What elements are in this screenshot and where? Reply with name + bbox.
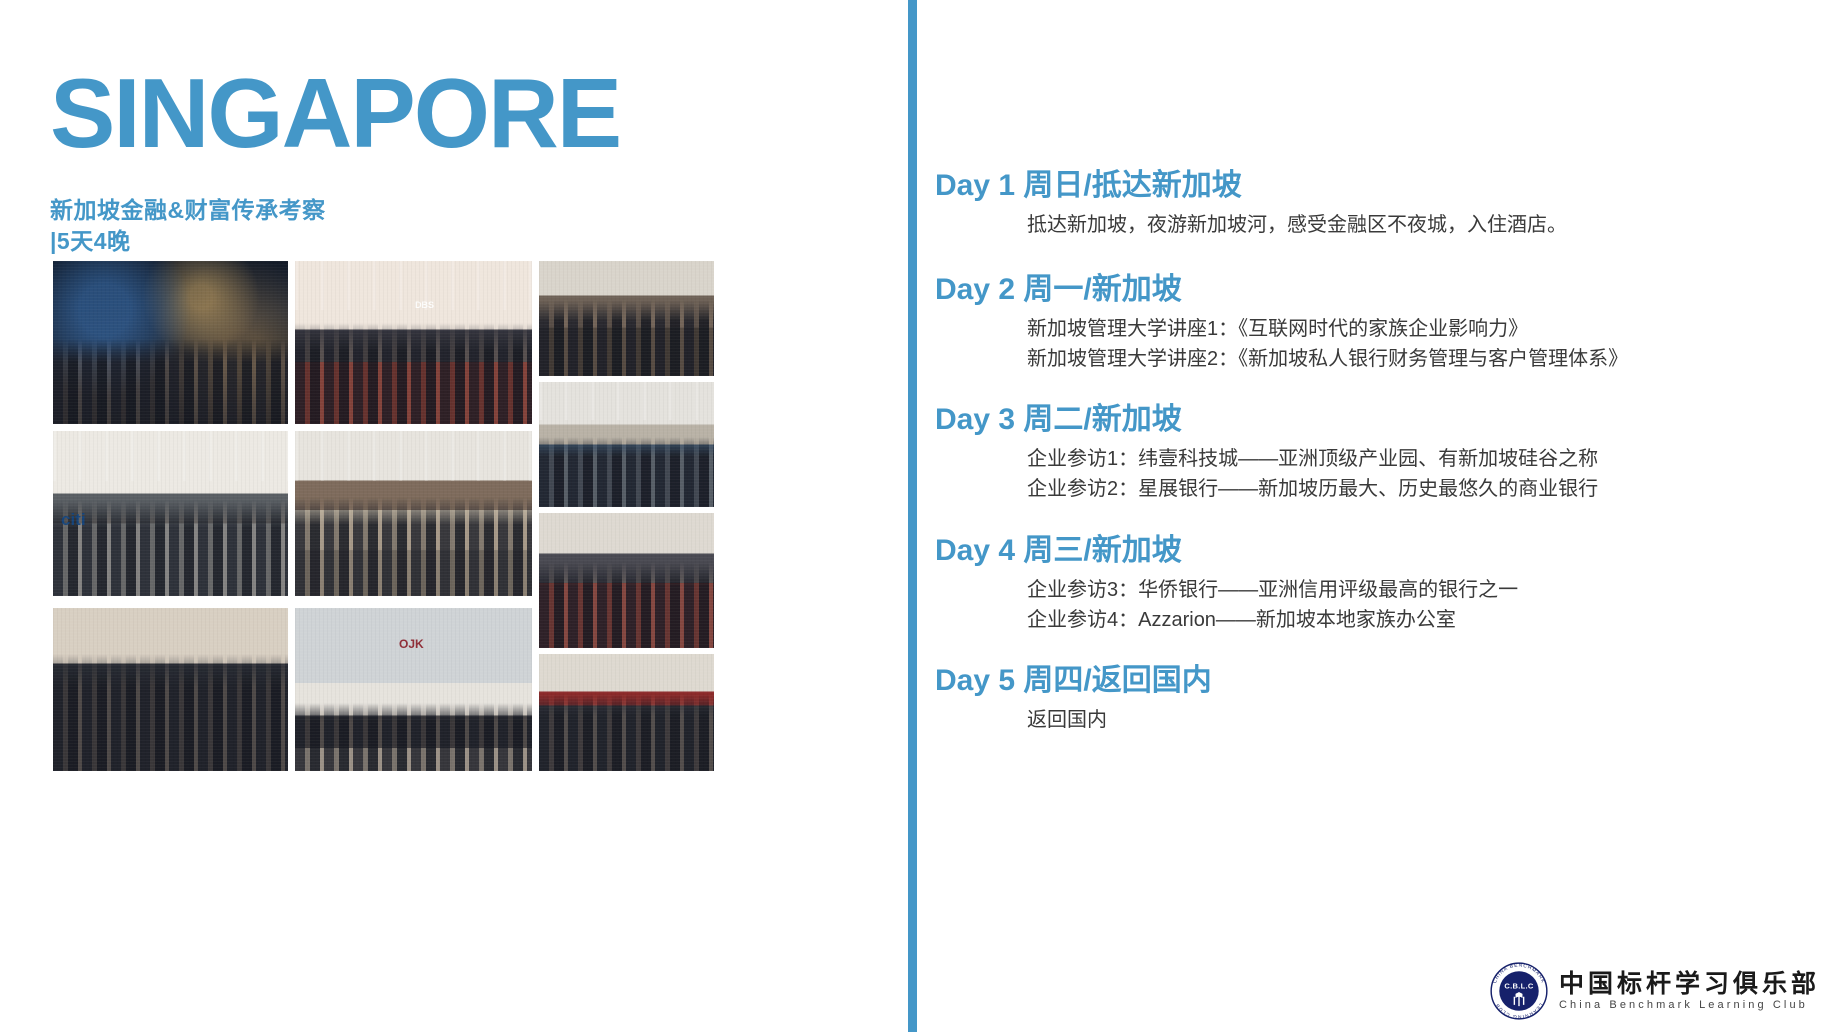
day-1-line-1: 抵达新加坡，夜游新加坡河，感受金融区不夜城，入住酒店。 <box>1027 210 1567 240</box>
photo-gallery: citi DBS <box>53 261 714 771</box>
cblc-seal-icon: C.B.L.C CHINA BENCHMARK LEARNING CLUB <box>1490 962 1548 1020</box>
subtitle-line-1: 新加坡金融&财富传承考察 <box>50 195 326 226</box>
photo-smu-seminar-room[interactable] <box>539 382 714 507</box>
left-panel: SINGAPORE 新加坡金融&财富传承考察 |5天4晚 <box>0 0 908 1032</box>
photo-red-auditorium[interactable] <box>539 513 714 648</box>
photo-marina-night-exhibit[interactable] <box>53 261 288 424</box>
day-5-details: 返回国内 <box>1027 705 1212 735</box>
day-2-details: 新加坡管理大学讲座1：《互联网时代的家族企业影响力》 新加坡管理大学讲座2：《新… <box>1027 314 1628 374</box>
itinerary-panel: Day 1 周日/抵达新加坡 抵达新加坡，夜游新加坡河，感受金融区不夜城，入住酒… <box>917 0 1834 1032</box>
day-3-heading: Day 3 周二/新加坡 <box>935 402 1598 438</box>
day-4-line-1: 企业参访3：华侨银行——亚洲信用评级最高的银行之一 <box>1027 575 1518 605</box>
day-4-heading: Day 4 周三/新加坡 <box>935 533 1518 569</box>
itinerary-day-3: Day 3 周二/新加坡 企业参访1：纬壹科技城——亚洲顶级产业园、有新加坡硅谷… <box>917 402 1598 504</box>
brand-logo: C.B.L.C CHINA BENCHMARK LEARNING CLUB 中国… <box>1490 962 1820 1020</box>
day-3-details: 企业参访1：纬壹科技城——亚洲顶级产业园、有新加坡硅谷之称 企业参访2：星展银行… <box>1027 444 1598 504</box>
subtitle-line-2: |5天4晚 <box>50 226 326 257</box>
day-1-heading: Day 1 周日/抵达新加坡 <box>935 168 1567 204</box>
itinerary-day-4: Day 4 周三/新加坡 企业参访3：华侨银行——亚洲信用评级最高的银行之一 企… <box>917 533 1518 635</box>
vertical-divider <box>908 0 917 1032</box>
brand-name-cn: 中国标杆学习俱乐部 <box>1559 970 1820 998</box>
day-5-line-1: 返回国内 <box>1027 705 1212 735</box>
day-2-line-1: 新加坡管理大学讲座1：《互联网时代的家族企业影响力》 <box>1027 314 1628 344</box>
itinerary-day-1: Day 1 周日/抵达新加坡 抵达新加坡，夜游新加坡河，感受金融区不夜城，入住酒… <box>917 168 1567 240</box>
photo-lecture-hall-group[interactable] <box>295 431 532 596</box>
day-4-line-2: 企业参访4：Azzarion——新加坡本地家族办公室 <box>1027 605 1518 635</box>
photo-ocbc-delegation[interactable] <box>53 608 288 771</box>
itinerary-day-5: Day 5 周四/返回国内 返回国内 <box>917 663 1212 735</box>
day-2-line-2: 新加坡管理大学讲座2：《新加坡私人银行财务管理与客户管理体系》 <box>1027 344 1628 374</box>
photo-ojk-lobby-group[interactable]: OJK <box>295 608 532 771</box>
photo-citibank-classroom[interactable]: citi <box>53 431 288 596</box>
day-2-heading: Day 2 周一/新加坡 <box>935 272 1628 308</box>
photo-certificate-ceremony[interactable] <box>539 654 714 771</box>
day-1-details: 抵达新加坡，夜游新加坡河，感受金融区不夜城，入住酒店。 <box>1027 210 1567 240</box>
photo-speaker-boardroom[interactable] <box>539 261 714 376</box>
day-3-line-2: 企业参访2：星展银行——新加坡历最大、历史最悠久的商业银行 <box>1027 474 1598 504</box>
day-3-line-1: 企业参访1：纬壹科技城——亚洲顶级产业园、有新加坡硅谷之称 <box>1027 444 1598 474</box>
page-title: SINGAPORE <box>50 64 620 162</box>
page-subtitle: 新加坡金融&财富传承考察 |5天4晚 <box>50 195 326 257</box>
presentation-slide: SINGAPORE 新加坡金融&财富传承考察 |5天4晚 <box>0 0 1834 1032</box>
day-4-details: 企业参访3：华侨银行——亚洲信用评级最高的银行之一 企业参访4：Azzarion… <box>1027 575 1518 635</box>
svg-text:C.B.L.C: C.B.L.C <box>1504 982 1533 991</box>
brand-name: 中国标杆学习俱乐部 China Benchmark Learning Club <box>1559 970 1820 1013</box>
day-5-heading: Day 5 周四/返回国内 <box>935 663 1212 699</box>
itinerary-day-2: Day 2 周一/新加坡 新加坡管理大学讲座1：《互联网时代的家族企业影响力》 … <box>917 272 1628 374</box>
photo-dbs-group-redcarpet[interactable]: DBS <box>295 261 532 424</box>
brand-name-en: China Benchmark Learning Club <box>1559 998 1820 1013</box>
